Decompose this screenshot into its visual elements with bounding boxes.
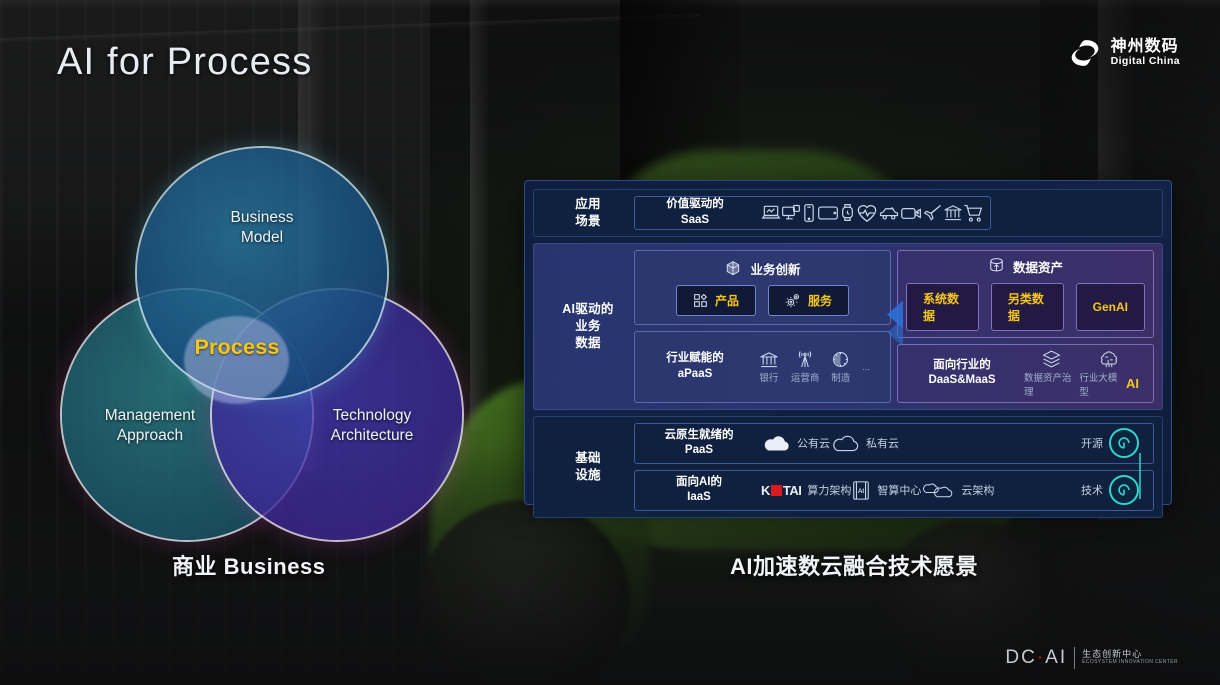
smartphone-icon[interactable] bbox=[801, 203, 817, 223]
arch-headline-business-innovation: 业务创新 bbox=[643, 259, 882, 278]
arch-sublabel-line2: DaaS&MaaS bbox=[906, 373, 1018, 389]
footer-ai: AI bbox=[1045, 647, 1067, 668]
chip-service-label: 服务 bbox=[808, 292, 832, 309]
industry-telecom[interactable]: 运营商 bbox=[791, 350, 820, 384]
arch-sublabel-line2: aPaaS bbox=[643, 367, 747, 383]
industry-telecom-label: 运营商 bbox=[791, 370, 820, 384]
arch-row-application: 应用 场景 价值驱动的 SaaS bbox=[533, 189, 1163, 237]
arch-iaas-item-row: K TAI 算力架构 AI 智算中心 云架构 bbox=[755, 475, 1145, 505]
data-governance-label: 数据资产治理 bbox=[1024, 370, 1079, 398]
arch-pane-data-asset[interactable]: 数据资产 系统数据 另类数据 GenAI bbox=[897, 250, 1154, 338]
cloud-architecture-item[interactable]: 云架构 bbox=[921, 480, 994, 500]
compute-architecture-item[interactable]: K TAI 算力架构 bbox=[761, 482, 851, 498]
open-source-item[interactable]: 开源 bbox=[1081, 428, 1139, 458]
shopping-cart-icon[interactable] bbox=[963, 203, 984, 223]
venn-label-process: Process bbox=[182, 335, 292, 360]
brand-logo: 神州数码 Digital China bbox=[1068, 36, 1180, 70]
open-source-connector-line bbox=[1139, 453, 1141, 499]
cube-cluster-icon bbox=[724, 260, 742, 278]
arch-headline-data-asset: 数据资产 bbox=[906, 257, 1145, 276]
arch-pane-paas[interactable]: 云原生就绪的 PaaS 公有云 私有云 开源 bbox=[634, 423, 1154, 464]
arch-row-label-infrastructure: 基础 设施 bbox=[542, 450, 634, 484]
footer-center-name: 生态创新中心 ECOSYSTEM INNOVATION CENTER bbox=[1082, 650, 1178, 665]
venn-label-technology: Technology Architecture bbox=[292, 406, 452, 446]
arch-sublabel-iaas: 面向AI的 IaaS bbox=[643, 475, 755, 506]
chip-system-data-label: 系统数据 bbox=[923, 290, 962, 324]
chip-service[interactable]: 服务 bbox=[768, 285, 849, 316]
database-icon bbox=[988, 257, 1005, 275]
arch-row-label-application: 应用 场景 bbox=[542, 196, 634, 230]
layered-cube-icon bbox=[1041, 349, 1062, 369]
ai-server-icon: AI bbox=[851, 480, 871, 501]
open-source-node-icon bbox=[1109, 428, 1139, 458]
kuntai-brand-a: K bbox=[761, 483, 770, 498]
svg-text:AI: AI bbox=[858, 488, 865, 495]
industry-manufacturing[interactable]: 制造 bbox=[831, 350, 850, 384]
arch-row-label-line2: 设施 bbox=[542, 467, 634, 484]
industry-llm[interactable]: 行业大模型 AI bbox=[1079, 349, 1139, 398]
industry-llm-label: 行业大模型 bbox=[1079, 370, 1125, 398]
arch-apaas-icon-row: 银行 运营商 制造 ... bbox=[747, 350, 882, 384]
arch-paas-item-row: 公有云 私有云 开源 bbox=[755, 428, 1145, 458]
public-cloud-label: 公有云 bbox=[797, 435, 830, 451]
arch-chipbar-innovation: 产品 服务 bbox=[643, 285, 882, 316]
arch-headline-text: 业务创新 bbox=[750, 259, 800, 278]
arch-infrastructure-panes: 云原生就绪的 PaaS 公有云 私有云 开源 bbox=[634, 423, 1154, 511]
venn-label-management-line2: Approach bbox=[70, 426, 230, 446]
multi-cloud-icon bbox=[921, 480, 955, 500]
arch-pane-daas-maas[interactable]: 面向行业的 DaaS&MaaS 数据资产治理 行业大模型 AI bbox=[897, 344, 1154, 403]
arch-half-business-innovation: 业务创新 产品 服务 行业赋能的 bbox=[634, 250, 891, 403]
open-source-label: 开源 bbox=[1081, 435, 1103, 451]
ai-compute-center-label: 智算中心 bbox=[877, 482, 921, 498]
public-cloud-item[interactable]: 公有云 bbox=[761, 434, 830, 453]
arch-sublabel-paas: 云原生就绪的 PaaS bbox=[643, 428, 755, 459]
slide-title: AI for Process bbox=[57, 41, 312, 84]
footer-divider bbox=[1074, 647, 1075, 669]
arch-sublabel-line1: 行业赋能的 bbox=[643, 351, 747, 367]
arch-pane-iaas[interactable]: 面向AI的 IaaS K TAI 算力架构 AI 智算中心 bbox=[634, 470, 1154, 511]
venn-diagram: Business Model Management Approach Techn… bbox=[62, 148, 462, 518]
arch-sublabel-line2: PaaS bbox=[643, 443, 755, 459]
industry-bank-label: 银行 bbox=[759, 370, 778, 384]
telecom-tower-icon bbox=[795, 350, 815, 369]
technology-item[interactable]: 技术 bbox=[1081, 475, 1139, 505]
industry-llm-labelwrap: 行业大模型 AI bbox=[1079, 370, 1139, 398]
kuntai-brand-b: TAI bbox=[783, 483, 801, 498]
swirl-logo-icon bbox=[1068, 36, 1102, 70]
arch-chipbar-data-asset: 系统数据 另类数据 GenAI bbox=[906, 283, 1145, 331]
brand-text: 神州数码 Digital China bbox=[1111, 39, 1180, 67]
arch-sublabel-daas-maas: 面向行业的 DaaS&MaaS bbox=[906, 358, 1018, 389]
venn-center-intersection bbox=[184, 316, 289, 404]
kuntai-logo: K TAI bbox=[761, 483, 801, 498]
chip-genai[interactable]: GenAI bbox=[1076, 283, 1145, 331]
private-cloud-label: 私有云 bbox=[866, 435, 899, 451]
venn-label-technology-line1: Technology bbox=[292, 406, 452, 426]
arch-sublabel-apaas: 行业赋能的 aPaaS bbox=[643, 351, 747, 382]
airplane-icon[interactable] bbox=[923, 203, 943, 223]
chip-system-data[interactable]: 系统数据 bbox=[906, 283, 979, 331]
footer-dot: · bbox=[1037, 647, 1045, 668]
footer-dc-text: DC·AI bbox=[1005, 647, 1067, 669]
heart-pulse-icon[interactable] bbox=[856, 203, 878, 223]
venn-label-technology-line2: Architecture bbox=[292, 426, 452, 446]
gears-icon bbox=[785, 293, 801, 308]
venn-label-business-line2: Model bbox=[192, 228, 332, 248]
chip-alternative-data-label: 另类数据 bbox=[1008, 290, 1047, 324]
arch-row-label-line3: 数据 bbox=[542, 335, 634, 352]
industry-llm-ai-suffix: AI bbox=[1126, 376, 1139, 391]
smartwatch-icon[interactable] bbox=[839, 202, 856, 223]
industry-manufacturing-label: 制造 bbox=[831, 370, 850, 384]
ellipsis-icon: ... bbox=[862, 362, 870, 373]
chip-product[interactable]: 产品 bbox=[676, 285, 756, 316]
manufacturing-gear-icon bbox=[831, 350, 850, 369]
brain-ai-icon bbox=[1098, 349, 1120, 369]
chip-genai-label: GenAI bbox=[1093, 300, 1128, 314]
blocks-icon bbox=[693, 293, 708, 308]
arch-pane-business-innovation[interactable]: 业务创新 产品 服务 bbox=[634, 250, 891, 326]
open-source-node-icon bbox=[1109, 475, 1139, 505]
tablet-icon[interactable] bbox=[817, 204, 839, 222]
arch-sublabel-line2: SaaS bbox=[635, 213, 755, 229]
cloud-filled-icon bbox=[761, 434, 791, 453]
bank-icon[interactable] bbox=[943, 203, 963, 222]
arch-sublabel-saas: 价值驱动的 SaaS bbox=[635, 197, 755, 228]
technology-label: 技术 bbox=[1081, 482, 1103, 498]
ai-compute-center-item[interactable]: AI 智算中心 bbox=[851, 480, 921, 501]
cloud-architecture-label: 云架构 bbox=[961, 482, 994, 498]
arch-scenario-icon-row bbox=[755, 202, 990, 223]
chip-alternative-data[interactable]: 另类数据 bbox=[991, 283, 1064, 331]
private-cloud-item[interactable]: 私有云 bbox=[830, 434, 899, 453]
arch-pane-saas[interactable]: 价值驱动的 SaaS bbox=[634, 196, 991, 230]
arch-sublabel-line1: 云原生就绪的 bbox=[643, 428, 755, 444]
compute-architecture-label: 算力架构 bbox=[807, 482, 851, 498]
venn-label-business-line1: Business bbox=[192, 208, 332, 228]
car-icon[interactable] bbox=[878, 204, 900, 222]
arch-row-infrastructure: 基础 设施 云原生就绪的 PaaS 公有云 私有云 bbox=[533, 416, 1163, 518]
arch-row-label-line1: AI驱动的 bbox=[542, 301, 634, 318]
arch-daas-icon-row: 数据资产治理 行业大模型 AI bbox=[1018, 349, 1145, 398]
arch-headline-text: 数据资产 bbox=[1013, 257, 1063, 276]
arch-row-label-line1: 基础 bbox=[542, 450, 634, 467]
arch-row-ai-data: AI驱动的 业务 数据 业务创新 产品 bbox=[533, 243, 1163, 410]
chip-product-label: 产品 bbox=[715, 292, 739, 309]
desktop-monitor-icon[interactable] bbox=[781, 203, 801, 223]
arch-sublabel-line2: IaaS bbox=[643, 490, 755, 506]
cloud-outline-icon bbox=[830, 434, 860, 453]
brand-name-cn: 神州数码 bbox=[1111, 39, 1180, 56]
footer-dc: DC bbox=[1005, 647, 1036, 668]
arch-row-label-line1: 应用 bbox=[542, 196, 634, 213]
industry-bank[interactable]: 银行 bbox=[759, 350, 779, 384]
arch-row-label-ai-data: AI驱动的 业务 数据 bbox=[542, 301, 634, 352]
kuntai-square-mark bbox=[771, 485, 782, 496]
venn-label-management-line1: Management bbox=[70, 406, 230, 426]
video-camera-icon[interactable] bbox=[900, 205, 923, 221]
brand-name-en: Digital China bbox=[1111, 56, 1180, 67]
arch-sublabel-line1: 价值驱动的 bbox=[635, 197, 755, 213]
arch-sublabel-line1: 面向行业的 bbox=[906, 358, 1018, 374]
arch-half-data-asset: 数据资产 系统数据 另类数据 GenAI 面向行业的 DaaS&MaaS bbox=[897, 250, 1154, 403]
footer-logo: DC·AI 生态创新中心 ECOSYSTEM INNOVATION CENTER bbox=[1005, 647, 1178, 669]
arch-row-label-line2: 场景 bbox=[542, 213, 634, 230]
architecture-board: 应用 场景 价值驱动的 SaaS bbox=[524, 180, 1172, 505]
arch-pane-apaas[interactable]: 行业赋能的 aPaaS 银行 运营商 bbox=[634, 331, 891, 403]
footer-center-en: ECOSYSTEM INNOVATION CENTER bbox=[1082, 660, 1178, 666]
caption-architecture: AI加速数云融合技术愿景 bbox=[730, 549, 978, 581]
bank-icon bbox=[759, 350, 779, 369]
double-chevron-left-icon bbox=[881, 295, 907, 358]
caption-business: 商业 Business bbox=[172, 549, 325, 581]
arch-ai-data-columns: 业务创新 产品 服务 行业赋能的 bbox=[634, 250, 1154, 403]
ellipsis-label: ... bbox=[862, 362, 870, 373]
arch-sublabel-line1: 面向AI的 bbox=[643, 475, 755, 491]
data-governance[interactable]: 数据资产治理 bbox=[1024, 349, 1079, 398]
laptop-chart-icon[interactable] bbox=[761, 203, 781, 223]
arch-row-label-line2: 业务 bbox=[542, 318, 634, 335]
venn-label-business: Business Model bbox=[192, 208, 332, 248]
venn-label-management: Management Approach bbox=[70, 406, 230, 446]
